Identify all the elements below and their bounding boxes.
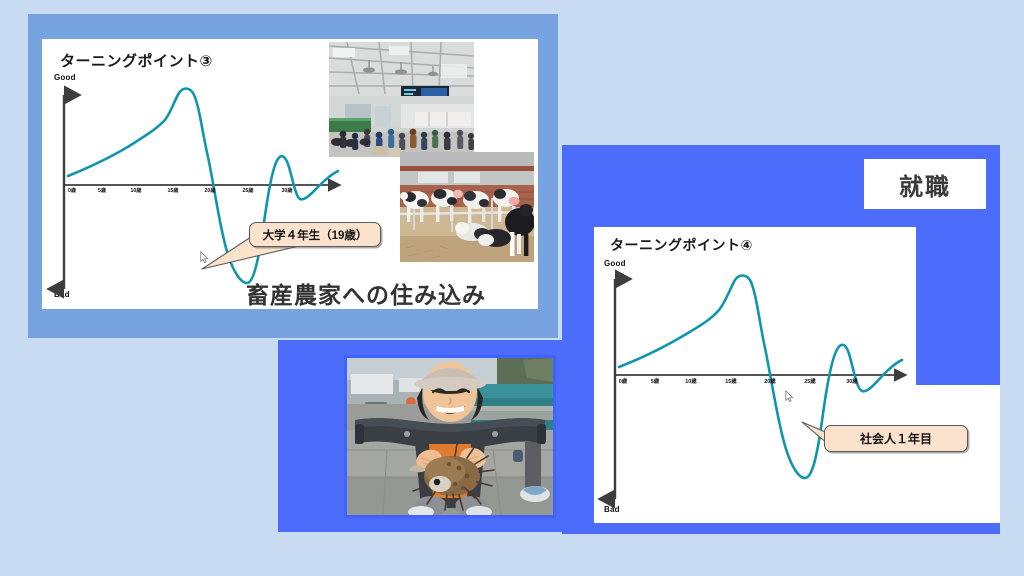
label-box-text: 就職: [899, 167, 951, 202]
label-box-employment: 就職: [864, 159, 986, 209]
chart4-tick-25: 25歳: [804, 377, 815, 385]
chart4-tick-10: 10歳: [685, 377, 696, 385]
chart3-tick-0: 0歳: [68, 187, 76, 194]
chart4-tick-15: 15歳: [725, 377, 736, 385]
chart4-plot: [594, 227, 916, 523]
chart4-tick-5: 5歳: [651, 377, 659, 385]
callout-first-year-worker: 社会人１年目: [824, 425, 968, 452]
photo-livestock-market-hall: [329, 42, 474, 157]
chart3-tick-10: 10歳: [131, 187, 142, 194]
chart4-tick-20: 20歳: [764, 377, 775, 385]
chart3-tick-30: 30歳: [282, 187, 293, 194]
chart4-tick-30: 30歳: [846, 377, 857, 385]
chart3-tick-25: 25歳: [243, 187, 254, 194]
callout-4-text: 社会人１年目: [860, 430, 932, 447]
photo-person-with-pufferfish: [344, 355, 556, 518]
callout-3-text: 大学４年生（19歳）: [263, 227, 368, 243]
caption-livestock-homestay: 畜産農家への住み込み: [246, 276, 486, 310]
chart3-tick-5: 5歳: [98, 187, 106, 194]
slide-canvas: ターニングポイント③ Good Bad: [0, 0, 1024, 576]
photo-holstein-calves: [400, 152, 534, 262]
chart-card-turning-point-4: ターニングポイント④ Good Bad: [594, 227, 916, 523]
callout-university-4th-year: 大学４年生（19歳）: [249, 222, 381, 247]
chart3-tick-15: 15歳: [168, 187, 179, 194]
chart3-tick-20: 20歳: [205, 187, 216, 194]
chart4-tick-0: 0歳: [619, 377, 627, 385]
